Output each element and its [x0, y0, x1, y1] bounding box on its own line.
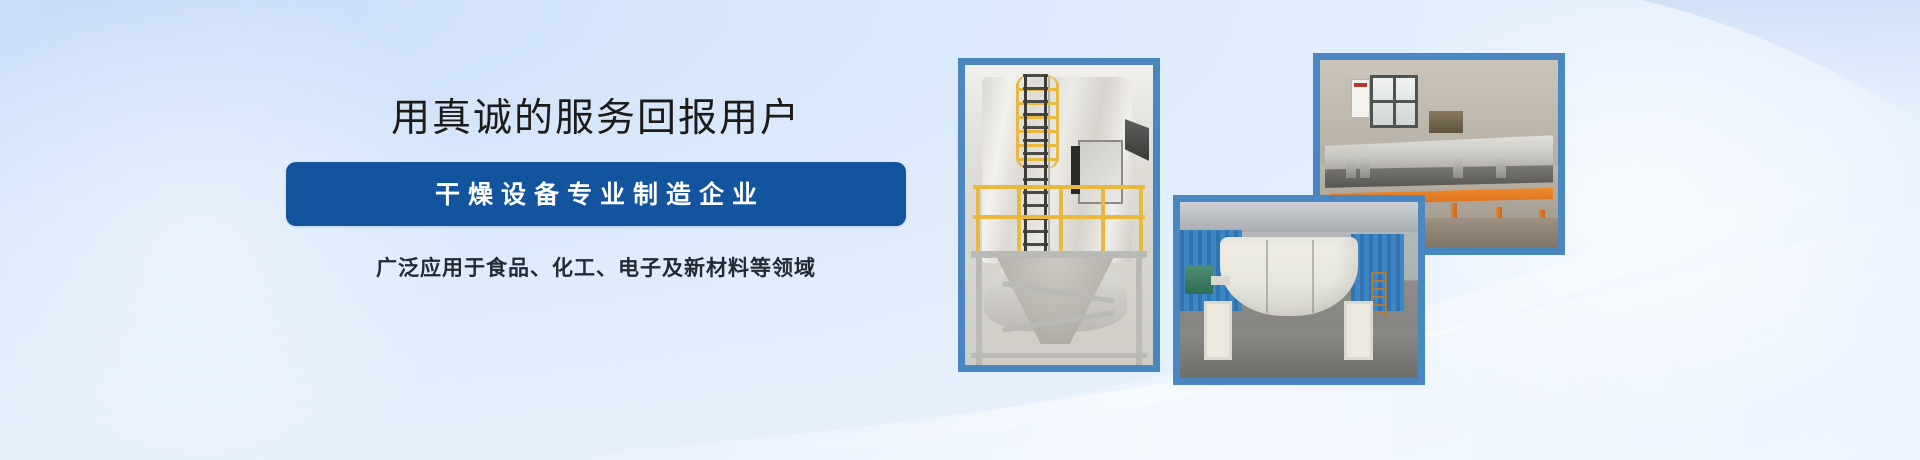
hero-copy: 用真诚的服务回报用户 干燥设备专业制造企业 广泛应用于食品、化工、电子及新材料等… — [286, 96, 906, 282]
subtitle-text: 广泛应用于食品、化工、电子及新材料等领域 — [286, 252, 906, 282]
spray-dryer-tower-image — [965, 65, 1153, 365]
page-title: 用真诚的服务回报用户 — [286, 96, 906, 142]
gallery-photo-ribbon-mixer[interactable] — [1173, 195, 1425, 385]
gallery-photo-spray-dryer-tower[interactable] — [958, 58, 1160, 372]
promo-banner: 用真诚的服务回报用户 干燥设备专业制造企业 广泛应用于食品、化工、电子及新材料等… — [0, 0, 1920, 460]
ribbon-mixer-image — [1180, 202, 1418, 378]
status-badge: 干燥设备专业制造企业 — [286, 162, 906, 226]
